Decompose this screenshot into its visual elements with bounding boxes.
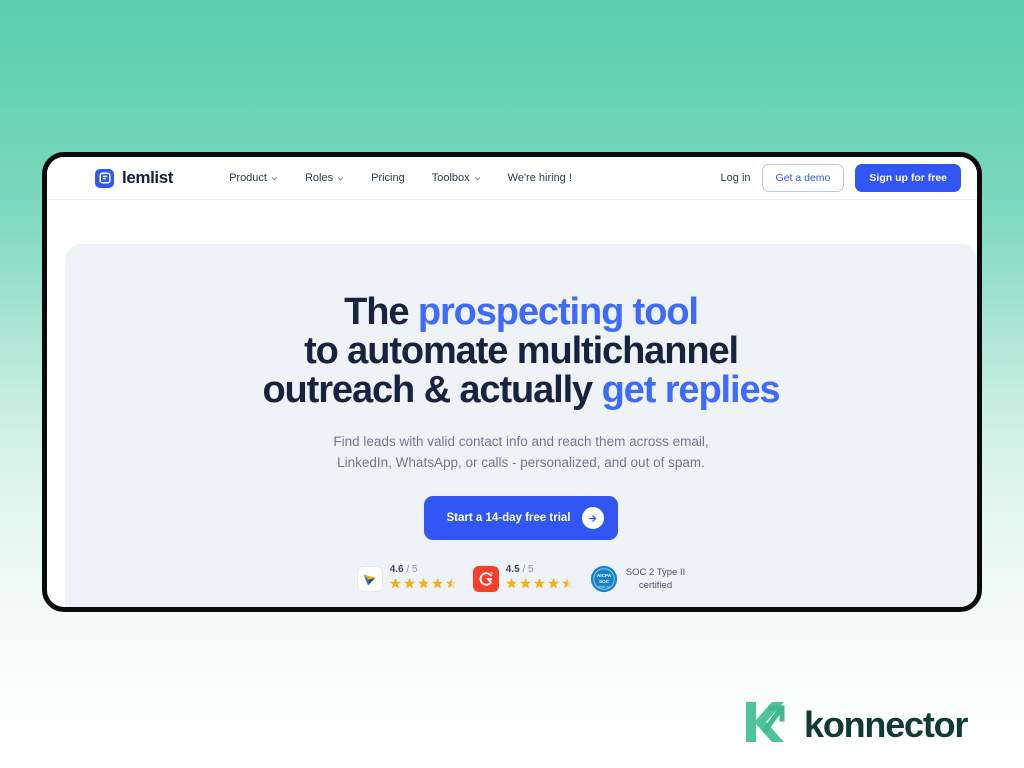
nav-item-roles-label: Roles xyxy=(305,172,333,184)
hero-cta-wrapper: Start a 14-day free trial xyxy=(65,496,977,540)
svg-text:2: 2 xyxy=(490,572,493,578)
hero-headline: The prospecting tool to automate multich… xyxy=(65,293,977,410)
g2-stars xyxy=(506,576,572,593)
page-background: lemlist Product Roles Pricing Toolbox xyxy=(0,0,1024,768)
svg-text:aicpa.org: aicpa.org xyxy=(598,584,610,588)
browser-window-card: lemlist Product Roles Pricing Toolbox xyxy=(42,152,982,612)
start-free-trial-button[interactable]: Start a 14-day free trial xyxy=(424,496,617,540)
lemlist-logo-icon xyxy=(95,169,114,188)
headline-line-1-accent: prospecting tool xyxy=(418,291,698,333)
nav-links: Product Roles Pricing Toolbox We're hiri… xyxy=(229,172,572,184)
subhead-line-1: Find leads with valid contact info and r… xyxy=(333,434,708,449)
brand-logo[interactable]: lemlist xyxy=(95,168,173,188)
aicpa-soc-seal-icon: AICPA SOC aicpa.org xyxy=(589,564,619,594)
badge-g2-text: 4.5 / 5 xyxy=(506,564,572,594)
headline-line-1-plain: The xyxy=(344,291,418,333)
nav-actions: Log in Get a demo Sign up for free xyxy=(721,164,961,192)
capterra-rating: 4.6 / 5 xyxy=(390,564,456,576)
brand-name: lemlist xyxy=(122,168,173,188)
trust-badges: 4.6 / 5 xyxy=(65,564,977,594)
hero-panel: The prospecting tool to automate multich… xyxy=(65,244,977,612)
nav-item-product[interactable]: Product xyxy=(229,172,278,184)
headline-line-3: outreach & actually get replies xyxy=(262,369,779,411)
nav-spacer xyxy=(47,200,977,244)
g2-rating-denominator: / 5 xyxy=(522,564,533,575)
nav-item-product-label: Product xyxy=(229,172,267,184)
sign-up-for-free-button[interactable]: Sign up for free xyxy=(855,164,961,192)
start-free-trial-label: Start a 14-day free trial xyxy=(446,512,570,524)
subhead-line-2: LinkedIn, WhatsApp, or calls - personali… xyxy=(337,455,705,470)
nav-item-pricing[interactable]: Pricing xyxy=(371,172,405,184)
headline-line-1: The prospecting tool xyxy=(344,291,698,333)
soc2-line-1: SOC 2 Type II xyxy=(626,566,686,579)
g2-rating: 4.5 / 5 xyxy=(506,564,572,576)
badge-g2: 2 4.5 / 5 xyxy=(473,564,572,594)
nav-item-toolbox-label: Toolbox xyxy=(432,172,470,184)
nav-item-pricing-label: Pricing xyxy=(371,172,405,184)
headline-line-3-plain: outreach & actually xyxy=(262,369,601,411)
nav-item-roles[interactable]: Roles xyxy=(305,172,344,184)
svg-text:SOC: SOC xyxy=(599,579,610,584)
svg-text:AICPA: AICPA xyxy=(597,573,612,578)
headline-line-2: to automate multichannel xyxy=(304,330,738,372)
soc2-line-2: certified xyxy=(626,579,686,592)
capterra-stars xyxy=(390,576,456,593)
hero-subheadline: Find leads with valid contact info and r… xyxy=(65,431,977,473)
capterra-rating-value: 4.6 xyxy=(390,564,404,575)
badge-soc2: AICPA SOC aicpa.org SOC 2 Type II certif… xyxy=(589,564,686,594)
login-link[interactable]: Log in xyxy=(721,172,751,184)
site-navbar: lemlist Product Roles Pricing Toolbox xyxy=(47,157,977,200)
badge-soc2-text: SOC 2 Type II certified xyxy=(626,566,686,592)
konnector-k-arrow-icon xyxy=(744,698,790,751)
nav-item-hiring[interactable]: We're hiring ! xyxy=(508,172,572,184)
nav-item-toolbox[interactable]: Toolbox xyxy=(432,172,481,184)
badge-capterra-text: 4.6 / 5 xyxy=(390,564,456,594)
capterra-rating-denominator: / 5 xyxy=(406,564,417,575)
headline-line-3-accent: get replies xyxy=(602,369,780,411)
konnector-wordmark: konnector xyxy=(804,704,967,746)
chevron-down-icon xyxy=(337,175,344,182)
konnector-watermark: konnector xyxy=(744,698,967,751)
capterra-icon xyxy=(357,566,383,592)
g2-rating-value: 4.5 xyxy=(506,564,520,575)
chevron-down-icon xyxy=(271,175,278,182)
g2-icon: 2 xyxy=(473,566,499,592)
get-a-demo-button[interactable]: Get a demo xyxy=(762,164,845,192)
chevron-down-icon xyxy=(474,175,481,182)
badge-capterra: 4.6 / 5 xyxy=(357,564,456,594)
nav-item-hiring-label: We're hiring ! xyxy=(508,172,572,184)
arrow-right-icon xyxy=(582,507,604,529)
